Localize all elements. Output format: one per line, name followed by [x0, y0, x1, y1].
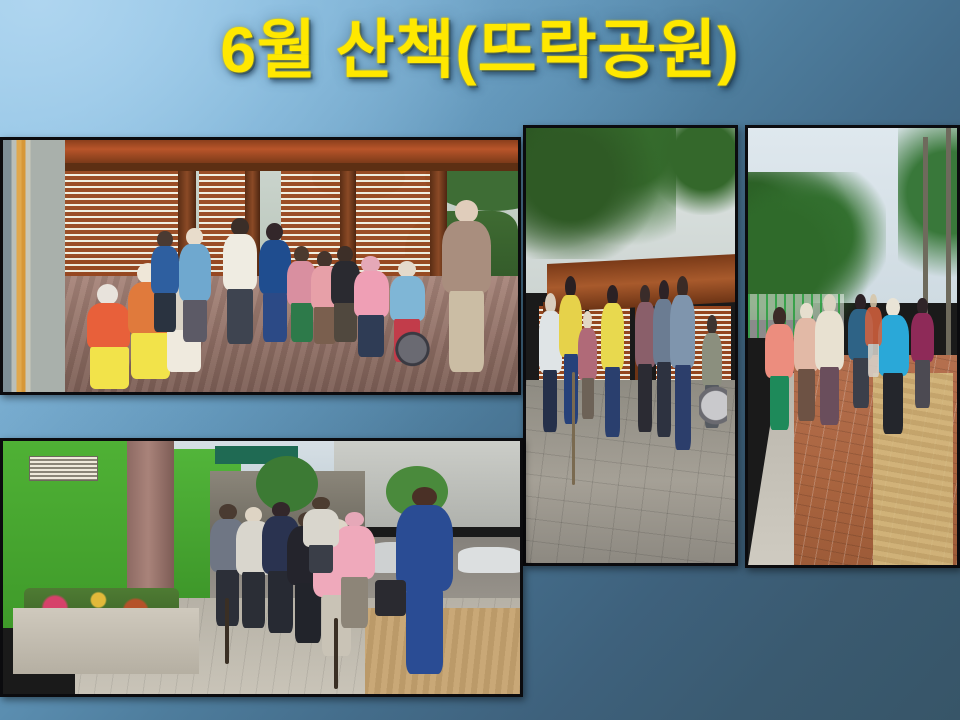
photo-sidewalk-walk-scene: [748, 128, 957, 565]
photo-green-wall-scene: [3, 441, 520, 694]
person: [303, 497, 339, 573]
concrete-planter: [13, 608, 199, 674]
tree-canopy-icon: [647, 128, 735, 215]
person: [815, 294, 844, 425]
person: [911, 298, 934, 407]
glass-panel: [3, 140, 65, 392]
person: [441, 200, 493, 371]
photo-green-wall[interactable]: [0, 438, 523, 697]
person: [601, 285, 624, 437]
pergola-roof-shadow: [65, 163, 518, 172]
person: [539, 293, 562, 432]
photo-sidewalk-walk[interactable]: [745, 125, 960, 568]
photo-plaza-walk[interactable]: [523, 125, 738, 566]
photo-pergola-group-scene: [3, 140, 518, 392]
presentation-slide: 6월 산책(뜨락공원): [0, 0, 960, 720]
person: [765, 307, 794, 429]
photo-pergola-group[interactable]: [0, 137, 521, 395]
person: [635, 285, 656, 433]
person: [334, 512, 375, 628]
person: [178, 228, 211, 341]
person: [353, 256, 389, 357]
walking-cane: [572, 372, 575, 485]
wheelchair: [389, 321, 435, 376]
person: [85, 284, 131, 390]
person: [222, 218, 258, 344]
handbag: [375, 580, 406, 615]
car: [458, 547, 520, 572]
walking-cane: [225, 598, 229, 664]
person: [150, 231, 181, 332]
photo-plaza-walk-scene: [526, 128, 735, 563]
vent-grille: [29, 456, 98, 481]
person: [878, 298, 909, 433]
person: [865, 294, 882, 377]
person: [670, 276, 695, 450]
page-title: 6월 산책(뜨락공원): [0, 14, 960, 88]
person: [578, 311, 597, 420]
pergola-roof: [65, 140, 518, 163]
walking-cane: [334, 618, 338, 689]
wheelchair: [699, 367, 726, 437]
